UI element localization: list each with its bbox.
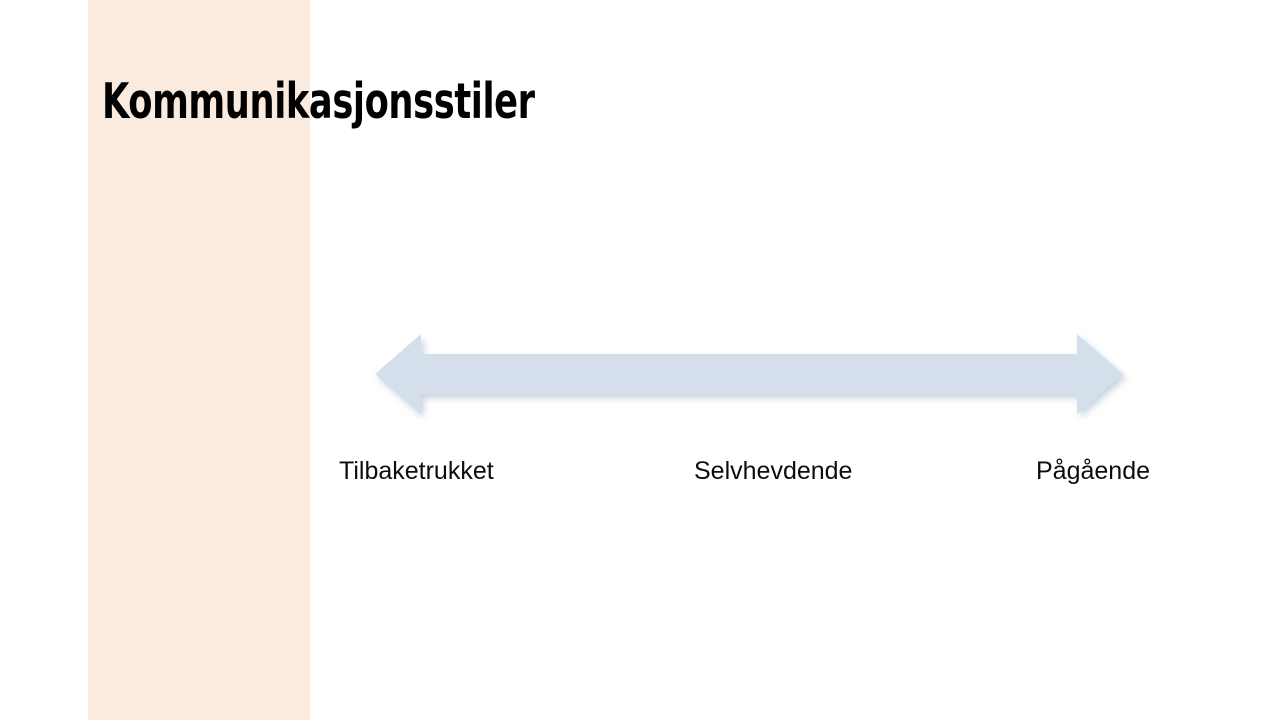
page-title: Kommunikasjonsstiler bbox=[102, 74, 535, 130]
bidirectional-arrow-icon bbox=[368, 326, 1130, 422]
scale-label-right: Pågående bbox=[1036, 456, 1150, 486]
slide-canvas: Kommunikasjonsstiler Tilbaketrukket Selv… bbox=[0, 0, 1280, 720]
scale-label-center: Selvhevdende bbox=[694, 456, 852, 486]
scale-label-left: Tilbaketrukket bbox=[339, 456, 494, 486]
arrow-shape bbox=[375, 334, 1123, 414]
